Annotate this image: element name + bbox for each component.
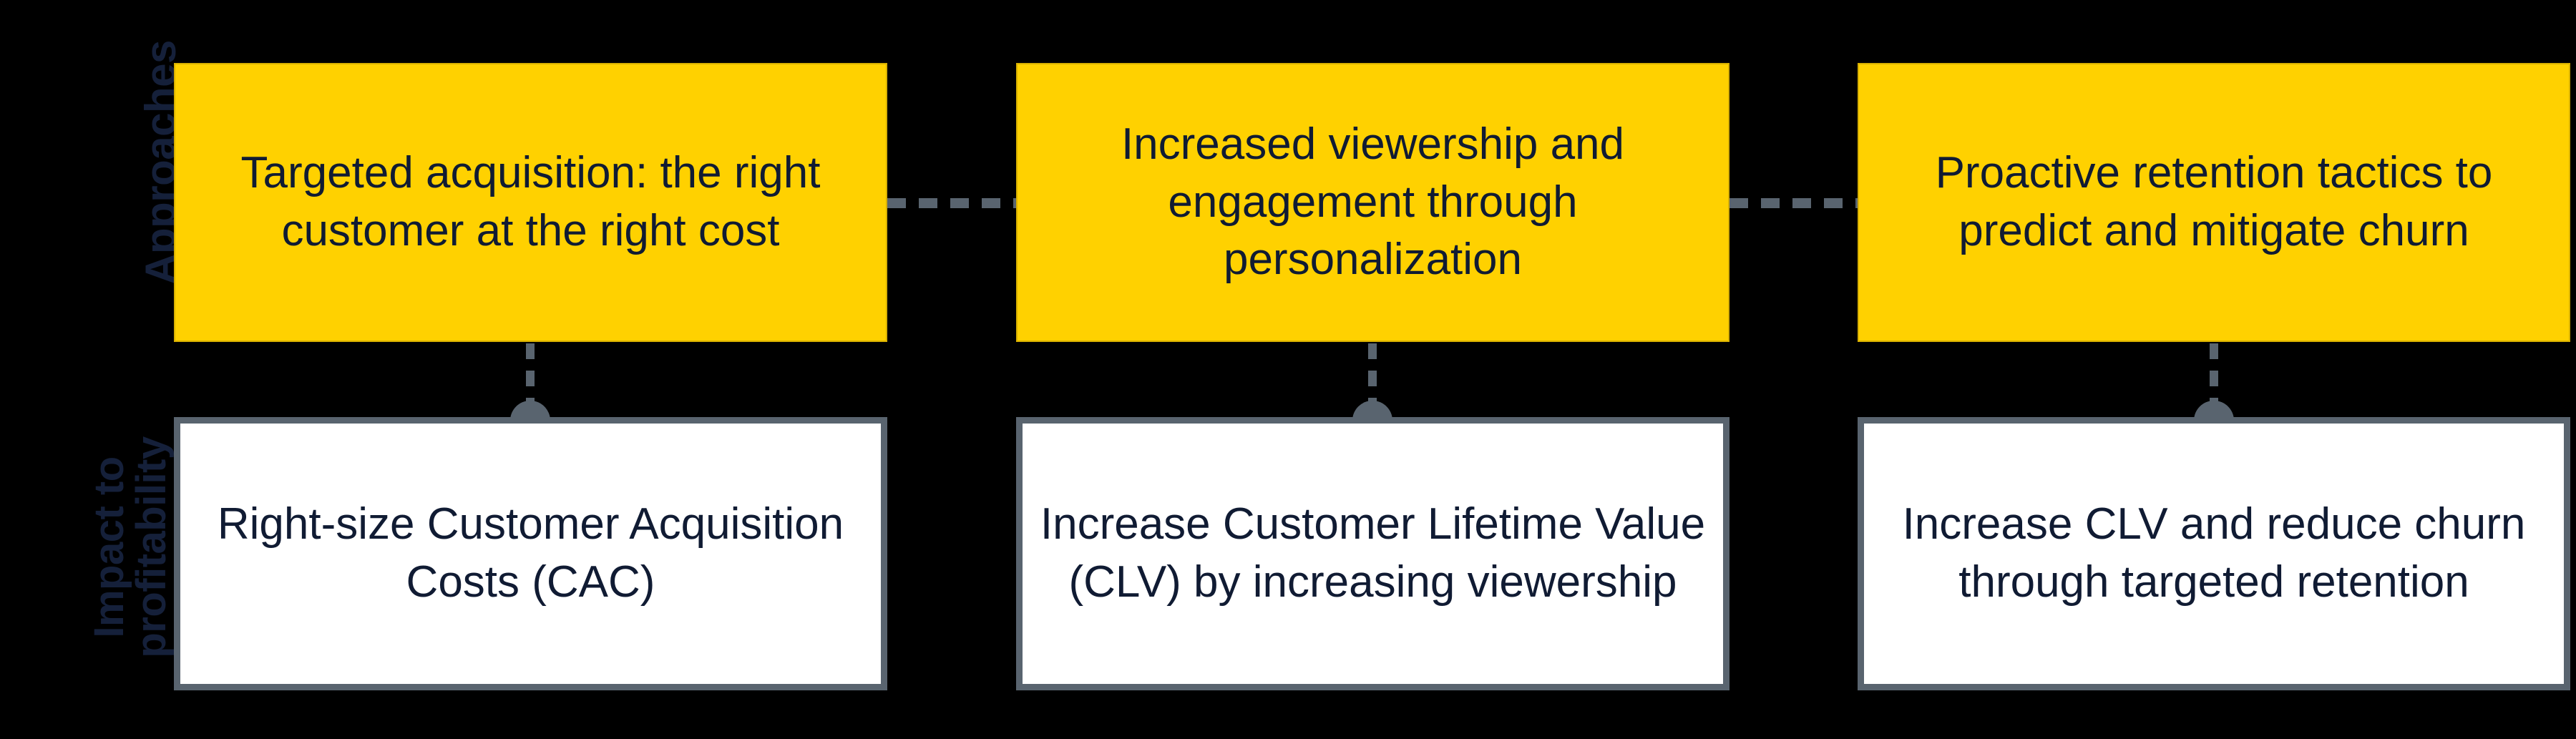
- approach-card-3[interactable]: Proactive retention tactics to predict a…: [1858, 63, 2570, 342]
- row-label-impact-to-profitability: Impact to profitability: [84, 408, 177, 687]
- approach-card-1[interactable]: Targeted acquisition: the right customer…: [174, 63, 887, 342]
- horizontal-dashed-connector-2: [1729, 198, 1858, 208]
- impact-card-1[interactable]: Right-size Customer Acquisition Costs (C…: [174, 417, 887, 690]
- approach-card-2-text: Increased viewership and engagement thro…: [1036, 116, 1709, 289]
- approach-card-3-text: Proactive retention tactics to predict a…: [1878, 145, 2550, 260]
- approach-card-2[interactable]: Increased viewership and engagement thro…: [1016, 63, 1729, 342]
- impact-card-3[interactable]: Increase CLV and reduce churn through ta…: [1858, 417, 2570, 690]
- impact-card-3-text: Increase CLV and reduce churn through ta…: [1880, 496, 2548, 611]
- row-label-impact-line-2: profitability: [130, 436, 172, 657]
- approach-card-1-text: Targeted acquisition: the right customer…: [194, 145, 867, 260]
- horizontal-dashed-connector-1: [887, 198, 1016, 208]
- impact-card-1-text: Right-size Customer Acquisition Costs (C…: [196, 496, 865, 611]
- row-label-impact-line-1: Impact to: [88, 456, 130, 637]
- impact-card-2-text: Increase Customer Lifetime Value (CLV) b…: [1038, 496, 1707, 611]
- diagram-canvas: Approaches Impact to profitability Targe…: [0, 0, 2576, 739]
- impact-card-2[interactable]: Increase Customer Lifetime Value (CLV) b…: [1016, 417, 1729, 690]
